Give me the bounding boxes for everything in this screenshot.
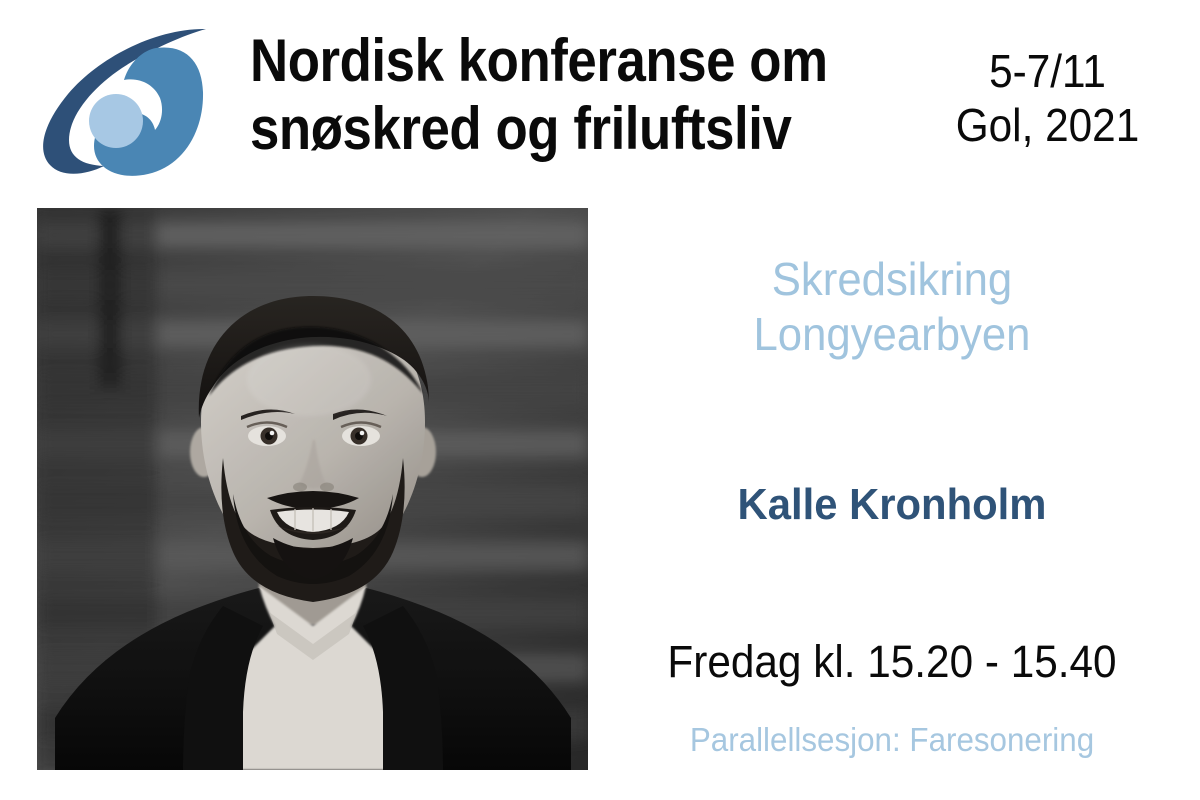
conference-location-year: Gol, 2021	[926, 98, 1170, 152]
conference-date-location: 5-7/11 Gol, 2021	[926, 44, 1170, 152]
talk-time: Fredag kl. 15.20 - 15.40	[610, 635, 1174, 689]
spiral-logo-icon	[38, 26, 208, 178]
conference-talk-poster: Nordisk konferanse om snøskred og friluf…	[0, 0, 1200, 800]
conference-dates: 5-7/11	[926, 44, 1170, 98]
conference-title: Nordisk konferanse om snøskred og friluf…	[250, 27, 831, 163]
talk-title-line2: Longyearbyen	[607, 307, 1177, 362]
talk-session: Parallellsesjon: Faresonering	[607, 720, 1177, 760]
conference-title-line2: snøskred og friluftsliv	[250, 95, 831, 163]
portrait-illustration	[37, 208, 588, 770]
talk-title: Skredsikring Longyearbyen	[607, 252, 1177, 362]
poster-header: Nordisk konferanse om snøskred og friluf…	[0, 0, 1200, 195]
speaker-name: Kalle Kronholm	[607, 479, 1177, 531]
speaker-portrait-photo	[37, 208, 588, 770]
talk-title-line1: Skredsikring	[607, 252, 1177, 307]
talk-info-column: Skredsikring Longyearbyen Kalle Kronholm…	[592, 208, 1192, 778]
conference-logo	[38, 26, 208, 178]
conference-title-line1: Nordisk konferanse om	[250, 27, 831, 95]
